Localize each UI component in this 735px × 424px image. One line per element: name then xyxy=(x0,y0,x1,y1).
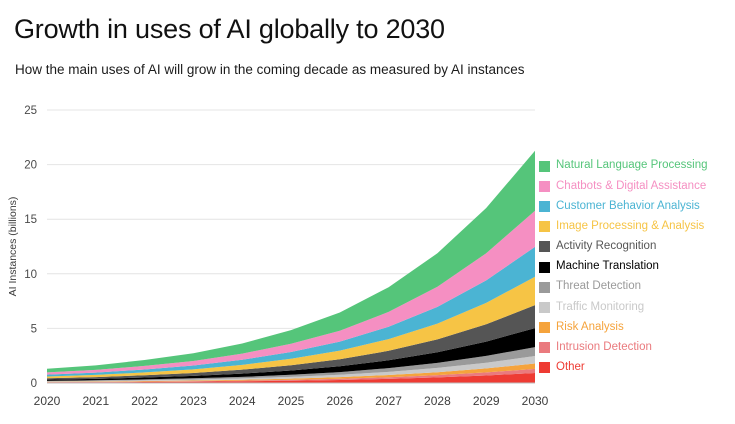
x-axis-tick-label: 2022 xyxy=(131,394,158,408)
x-axis-tick-label: 2029 xyxy=(473,394,500,408)
legend-item[interactable]: Customer Behavior Analysis xyxy=(539,196,735,216)
legend-item[interactable]: Threat Detection xyxy=(539,277,735,297)
legend-swatch-icon xyxy=(539,181,550,192)
x-axis-tick-label: 2024 xyxy=(229,394,256,408)
x-axis-tick-label: 2021 xyxy=(82,394,109,408)
legend-swatch-icon xyxy=(539,302,550,313)
legend-item-label: Traffic Monitoring xyxy=(556,302,644,314)
y-axis-tick-label: 10 xyxy=(24,269,37,281)
chart-subtitle: How the main uses of AI will grow in the… xyxy=(15,62,525,77)
legend-item[interactable]: Risk Analysis xyxy=(539,318,735,338)
y-axis-tick-label: 20 xyxy=(24,160,37,172)
legend-swatch-icon xyxy=(539,241,550,252)
legend-item-label: Chatbots & Digital Assistance xyxy=(556,181,706,193)
x-axis-tick-label: 2023 xyxy=(180,394,207,408)
legend-swatch-icon xyxy=(539,161,550,172)
chart-page: Growth in uses of AI globally to 2030 Ho… xyxy=(0,0,735,424)
x-axis-tick-label: 2020 xyxy=(34,394,61,408)
x-axis-tick-label: 2025 xyxy=(278,394,305,408)
legend-item[interactable]: Natural Language Processing xyxy=(539,156,735,176)
legend-item[interactable]: Machine Translation xyxy=(539,257,735,277)
legend-item-label: Other xyxy=(556,362,585,374)
y-axis-ticks: 0510152025 xyxy=(24,105,37,390)
legend-swatch-icon xyxy=(539,362,550,373)
x-axis-tick-label: 2028 xyxy=(424,394,451,408)
legend-swatch-icon xyxy=(539,322,550,333)
legend-item-label: Risk Analysis xyxy=(556,322,624,334)
legend-item-label: Activity Recognition xyxy=(556,241,656,253)
legend-item[interactable]: Activity Recognition xyxy=(539,237,735,257)
legend-item[interactable]: Chatbots & Digital Assistance xyxy=(539,176,735,196)
legend-swatch-icon xyxy=(539,342,550,353)
x-axis-ticks: 2020202120222023202420252026202720282029… xyxy=(34,394,549,408)
x-axis-tick-label: 2026 xyxy=(326,394,353,408)
legend-item[interactable]: Other xyxy=(539,358,735,378)
x-axis-tick-label: 2030 xyxy=(522,394,549,408)
legend-swatch-icon xyxy=(539,221,550,232)
legend-swatch-icon xyxy=(539,201,550,212)
y-axis-title: AI Instances (billions) xyxy=(7,197,19,297)
legend-item-label: Customer Behavior Analysis xyxy=(556,201,700,213)
y-axis-tick-label: 0 xyxy=(31,378,37,390)
y-axis-title-text: AI Instances (billions) xyxy=(7,197,19,297)
y-axis-tick-label: 5 xyxy=(31,323,37,335)
legend-swatch-icon xyxy=(539,262,550,273)
legend-item[interactable]: Intrusion Detection xyxy=(539,338,735,358)
legend-item[interactable]: Traffic Monitoring xyxy=(539,297,735,317)
legend-item-label: Image Processing & Analysis xyxy=(556,221,704,233)
page-title: Growth in uses of AI globally to 2030 xyxy=(14,14,445,45)
legend-item-label: Threat Detection xyxy=(556,281,641,293)
legend-item-label: Machine Translation xyxy=(556,261,659,273)
chart-legend: Natural Language ProcessingChatbots & Di… xyxy=(539,156,735,378)
x-axis-tick-label: 2027 xyxy=(375,394,402,408)
legend-item-label: Natural Language Processing xyxy=(556,160,708,172)
legend-item-label: Intrusion Detection xyxy=(556,342,652,354)
area-series-group xyxy=(47,151,535,383)
legend-item[interactable]: Image Processing & Analysis xyxy=(539,217,735,237)
y-axis-tick-label: 25 xyxy=(24,105,37,117)
legend-swatch-icon xyxy=(539,282,550,293)
y-axis-tick-label: 15 xyxy=(24,214,37,226)
